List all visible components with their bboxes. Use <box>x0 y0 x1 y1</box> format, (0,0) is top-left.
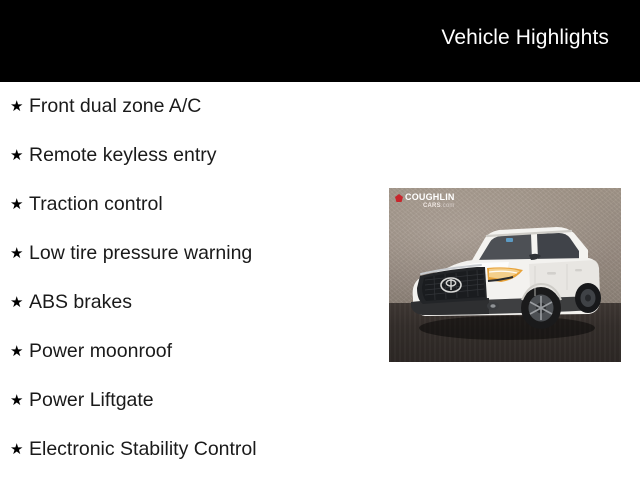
watermark-text: COUGHLIN CARS.com <box>405 193 455 209</box>
highlight-label: Traction control <box>29 195 163 215</box>
watermark-name: COUGHLIN <box>405 193 455 202</box>
list-item: ★ Remote keyless entry <box>0 131 380 180</box>
star-icon: ★ <box>10 344 29 359</box>
watermark-sub: CARS.com <box>405 203 455 209</box>
list-item: ★ Low tire pressure warning <box>0 229 380 278</box>
header-band: Vehicle Highlights <box>0 0 640 82</box>
star-icon: ★ <box>10 148 29 163</box>
list-item: ★ Electronic Stability Control <box>0 425 380 474</box>
star-icon: ★ <box>10 295 29 310</box>
highlight-label: Low tire pressure warning <box>29 244 252 264</box>
highlight-label: Power Liftgate <box>29 391 154 411</box>
vehicle-highlights-list: ★ Front dual zone A/C ★ Remote keyless e… <box>0 82 380 474</box>
highlight-label: Power moonroof <box>29 342 172 362</box>
page-title: Vehicle Highlights <box>441 27 609 48</box>
list-item: ★ ABS brakes <box>0 278 380 327</box>
list-item: ★ Power moonroof <box>0 327 380 376</box>
watermark-sub-suffix: .com <box>441 203 455 209</box>
star-icon: ★ <box>10 99 29 114</box>
star-icon: ★ <box>10 246 29 261</box>
star-icon: ★ <box>10 393 29 408</box>
list-item: ★ Power Liftgate <box>0 376 380 425</box>
vehicle-photo: COUGHLIN CARS.com <box>389 188 621 362</box>
list-item: ★ Front dual zone A/C <box>0 82 380 131</box>
star-icon: ★ <box>10 197 29 212</box>
highlight-label: Remote keyless entry <box>29 146 217 166</box>
star-icon: ★ <box>10 442 29 457</box>
dealer-watermark: COUGHLIN CARS.com <box>395 193 455 209</box>
vehicle-illustration <box>389 188 621 362</box>
coughlin-logo-icon <box>395 194 403 202</box>
highlight-label: Electronic Stability Control <box>29 440 257 460</box>
highlight-label: Front dual zone A/C <box>29 97 201 117</box>
content-area: ★ Front dual zone A/C ★ Remote keyless e… <box>0 82 640 480</box>
highlight-label: ABS brakes <box>29 293 132 313</box>
list-item: ★ Traction control <box>0 180 380 229</box>
watermark-sub-label: CARS <box>423 203 441 209</box>
